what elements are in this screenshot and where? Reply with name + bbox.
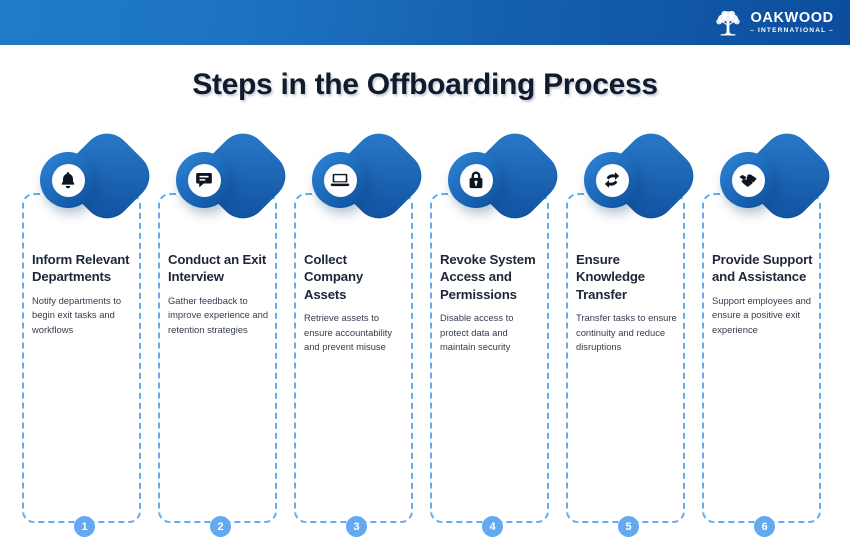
header-bar: OAKWOOD – INTERNATIONAL – [0,0,850,45]
step-description: Support employees and ensure a positive … [712,294,816,338]
brand-text: OAKWOOD – INTERNATIONAL – [750,11,834,35]
step-icon-disc [40,152,96,208]
step-card-3: Collect Company Assets Retrieve assets t… [290,135,425,415]
brand-logo: OAKWOOD – INTERNATIONAL – [713,7,834,39]
offboarding-infographic: OAKWOOD – INTERNATIONAL – Steps in the O… [0,0,850,450]
step-number-badge: 1 [74,516,95,537]
step-heading: Conduct an Exit Interview [168,251,272,286]
step-card-outline [702,193,821,523]
step-card-4: Revoke System Access and Permissions Dis… [426,135,561,415]
step-description: Notify departments to begin exit tasks a… [32,294,136,338]
step-icon-well [460,164,493,197]
step-card-outline [566,193,685,523]
step-number-badge: 6 [754,516,775,537]
step-icon-disc [448,152,504,208]
step-icon-well [52,164,85,197]
step-number-badge: 3 [346,516,367,537]
step-description: Transfer tasks to ensure continuity and … [576,311,680,355]
step-card-outline [158,193,277,523]
step-number-badge: 2 [210,516,231,537]
brand-subtitle: – INTERNATIONAL – [750,28,834,35]
steps-row: Inform Relevant Departments Notify depar… [0,135,850,415]
step-number-badge: 5 [618,516,639,537]
bell-icon [58,170,78,190]
step-icon-well [188,164,221,197]
exchange-arrows-icon [602,170,622,190]
step-description: Disable access to protect data and maint… [440,311,544,355]
step-number-badge: 4 [482,516,503,537]
step-text-block: Collect Company Assets Retrieve assets t… [304,251,408,355]
step-text-block: Revoke System Access and Permissions Dis… [440,251,544,355]
step-heading: Inform Relevant Departments [32,251,136,286]
padlock-icon [466,170,486,190]
step-heading: Collect Company Assets [304,251,408,303]
step-icon-disc [312,152,368,208]
step-text-block: Ensure Knowledge Transfer Transfer tasks… [576,251,680,355]
brand-name: OAKWOOD [751,11,834,26]
step-heading: Ensure Knowledge Transfer [576,251,680,303]
oak-tree-icon [713,8,743,38]
handshake-icon [738,170,758,190]
step-icon-well [324,164,357,197]
laptop-icon [330,170,350,190]
step-heading: Provide Support and Assistance [712,251,816,286]
step-card-outline [294,193,413,523]
step-text-block: Inform Relevant Departments Notify depar… [32,251,136,338]
speech-bubble-icon [194,170,214,190]
page-title: Steps in the Offboarding Process [0,68,850,102]
step-text-block: Conduct an Exit Interview Gather feedbac… [168,251,272,338]
step-description: Retrieve assets to ensure accountability… [304,311,408,355]
step-card-5: Ensure Knowledge Transfer Transfer tasks… [562,135,697,415]
step-card-2: Conduct an Exit Interview Gather feedbac… [154,135,289,415]
step-icon-disc [176,152,232,208]
step-icon-disc [584,152,640,208]
step-icon-well [596,164,629,197]
step-heading: Revoke System Access and Permissions [440,251,544,303]
step-icon-disc [720,152,776,208]
step-card-1: Inform Relevant Departments Notify depar… [18,135,153,415]
step-text-block: Provide Support and Assistance Support e… [712,251,816,338]
step-description: Gather feedback to improve experience an… [168,294,272,338]
step-card-6: Provide Support and Assistance Support e… [698,135,833,415]
step-icon-well [732,164,765,197]
step-card-outline [430,193,549,523]
step-card-outline [22,193,141,523]
